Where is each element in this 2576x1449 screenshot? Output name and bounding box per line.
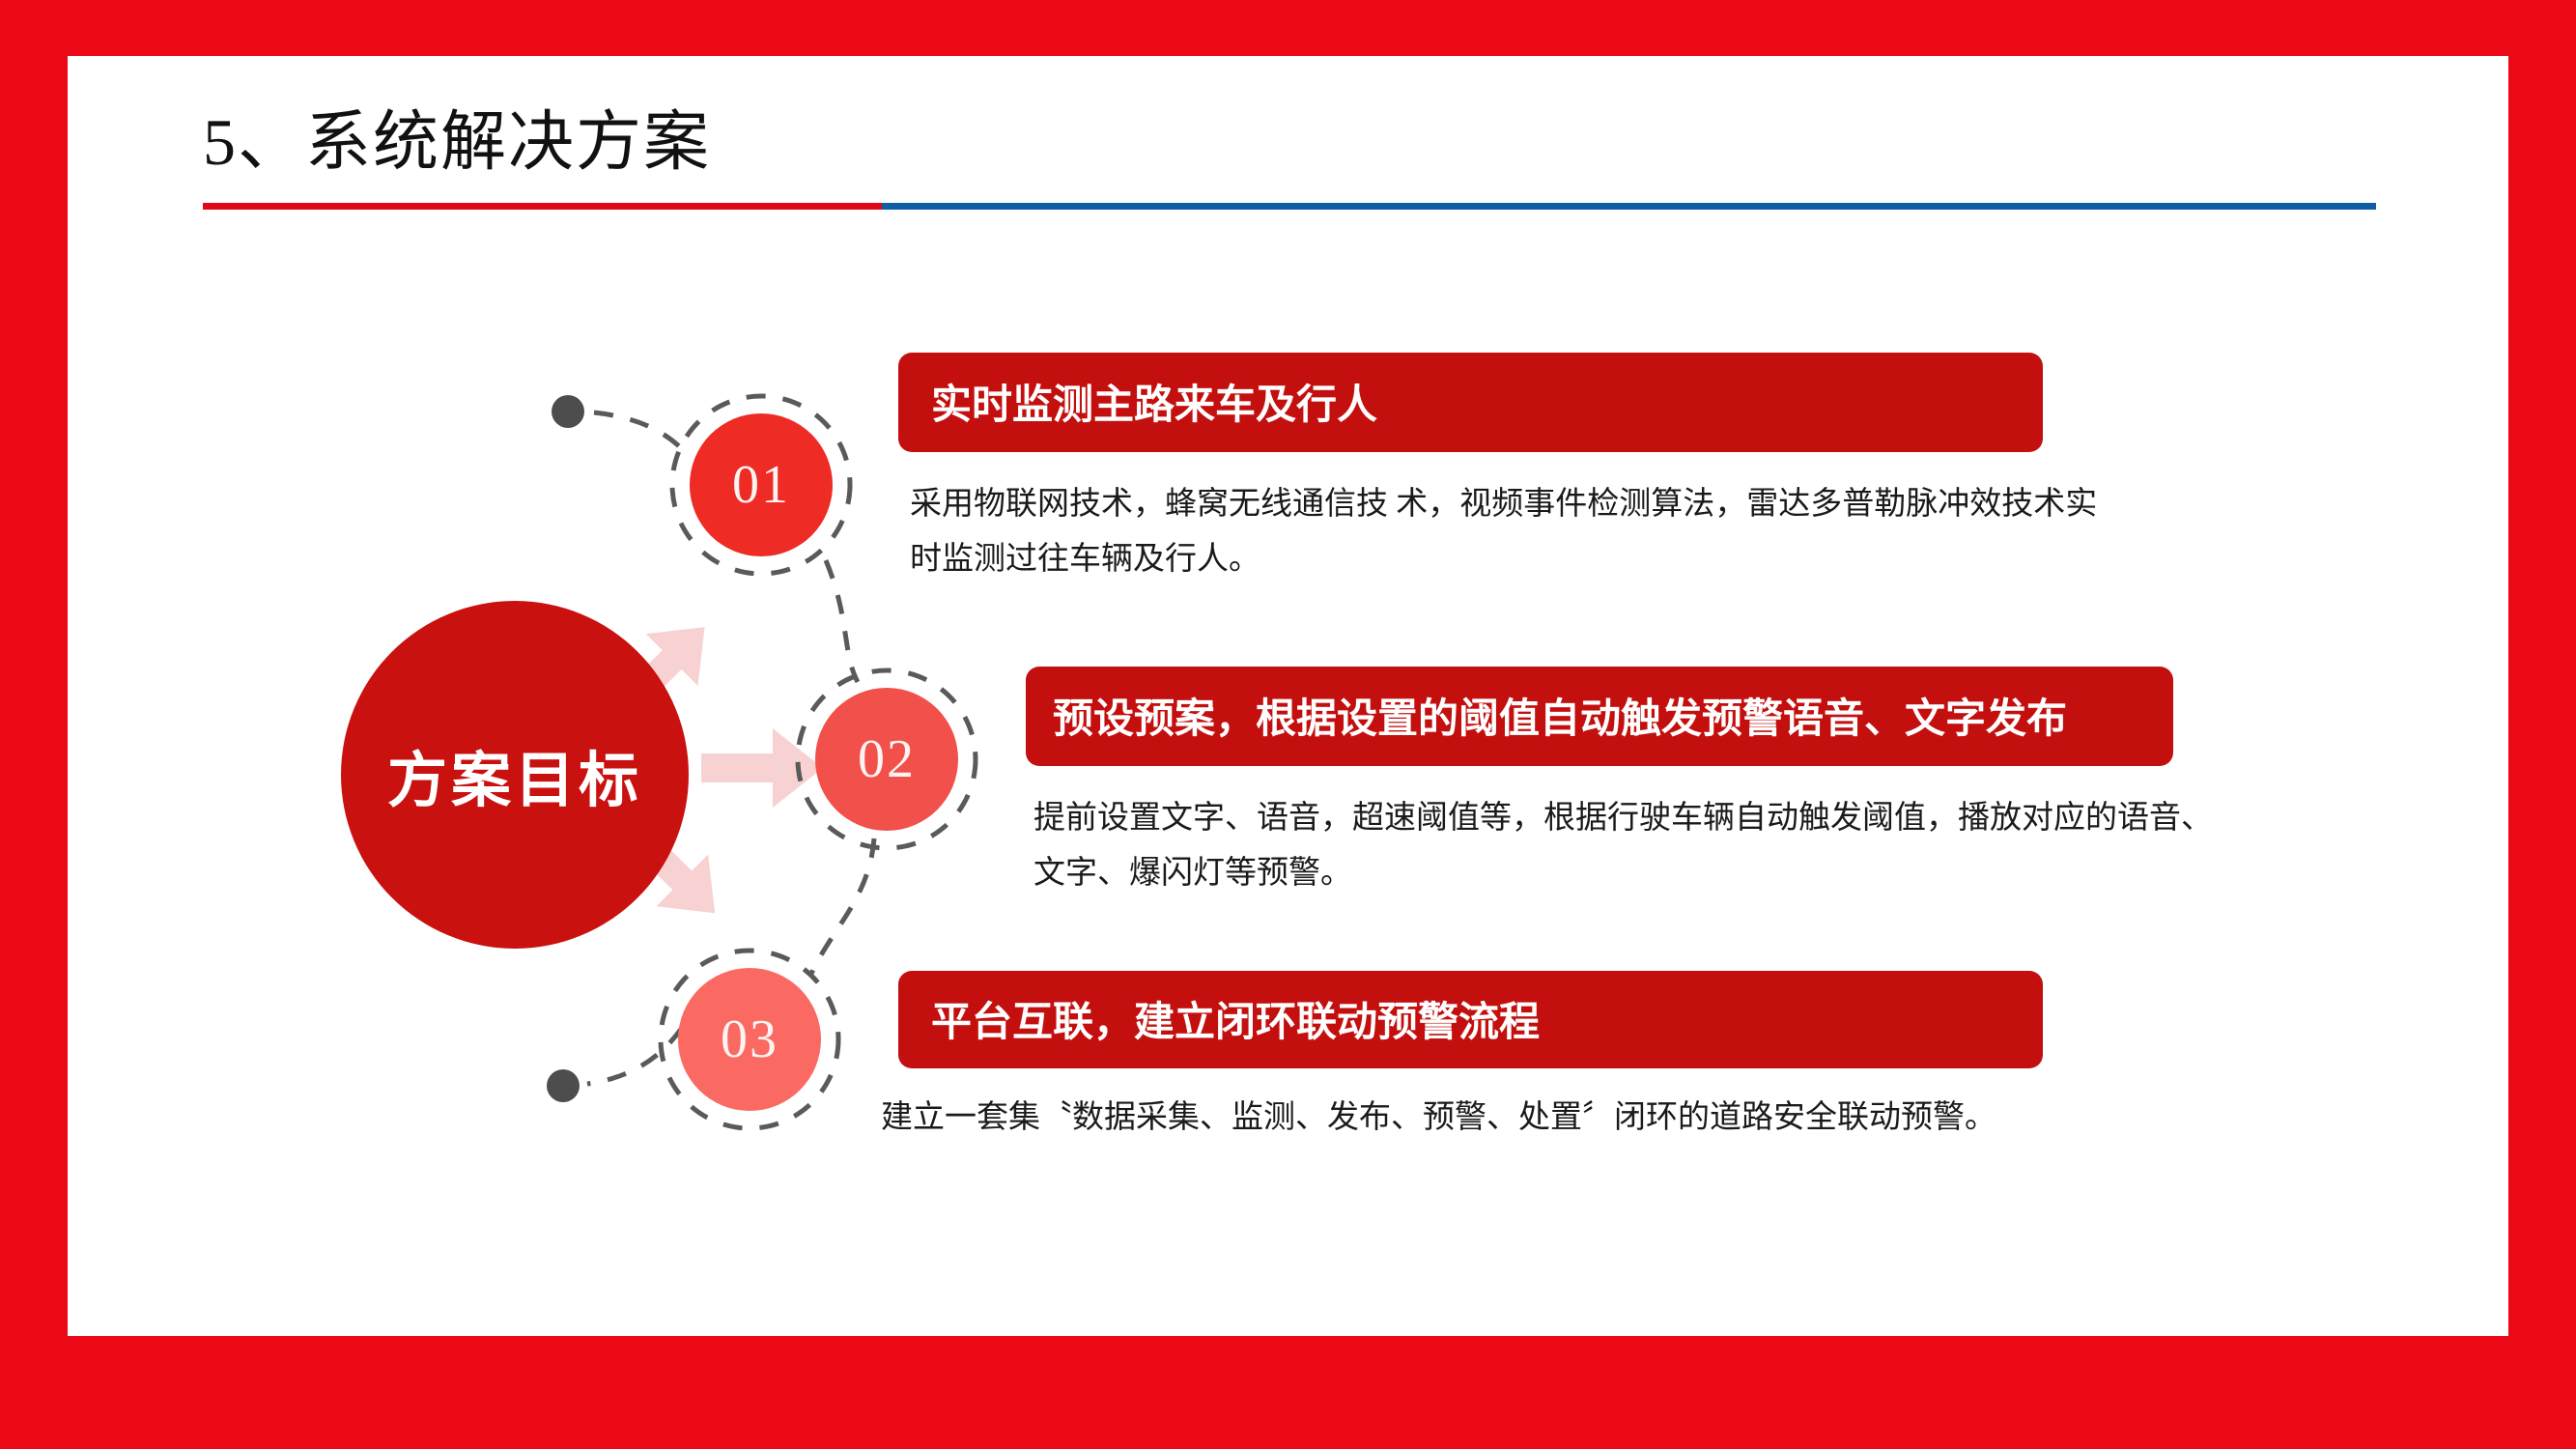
step-node-03[interactable]: 03 <box>678 968 821 1111</box>
step-banner-02[interactable]: 预设预案，根据设置的阈值自动触发预警语音、文字发布 <box>1026 667 2173 766</box>
hub-label: 方案目标 <box>387 731 642 818</box>
divider-red-segment <box>203 203 882 210</box>
step-number-01: 01 <box>732 458 790 512</box>
step-body-03: 建立一套集〝数据采集、监测、发布、预警、处置〞闭环的道路安全联动预警。 <box>881 1090 2054 1145</box>
step-node-02[interactable]: 02 <box>815 688 958 831</box>
slide-header: 5、系统解决方案 <box>203 101 2376 227</box>
step-block-01: 实时监测主路来车及行人 采用物联网技术，蜂窝无线通信技 术，视频事件检测算法，雷… <box>898 353 2115 587</box>
slide-root: 5、系统解决方案 <box>0 0 2576 1449</box>
step-block-03: 平台互联，建立闭环联动预警流程 建立一套集〝数据采集、监测、发布、预警、处置〞闭… <box>898 971 2125 1145</box>
step-number-03: 03 <box>721 1012 778 1066</box>
divider-blue-segment <box>882 203 2376 210</box>
hub-circle[interactable]: 方案目标 <box>341 601 689 949</box>
step-number-02: 02 <box>858 732 916 786</box>
title-divider <box>203 203 2376 210</box>
step-block-02: 预设预案，根据设置的阈值自动触发预警语音、文字发布 提前设置文字、语音，超速阈值… <box>1026 667 2281 901</box>
page-title: 5、系统解决方案 <box>203 101 711 183</box>
step-banner-01[interactable]: 实时监测主路来车及行人 <box>898 353 2043 452</box>
step-body-02: 提前设置文字、语音，超速阈值等，根据行驶车辆自动触发阈值，播放对应的语音、文字、… <box>1033 791 2241 901</box>
step-body-01: 采用物联网技术，蜂窝无线通信技 术，视频事件检测算法，雷达多普勒脉冲效技术实时监… <box>910 477 2112 587</box>
step-banner-03[interactable]: 平台互联，建立闭环联动预警流程 <box>898 971 2043 1068</box>
step-node-01[interactable]: 01 <box>690 413 833 556</box>
